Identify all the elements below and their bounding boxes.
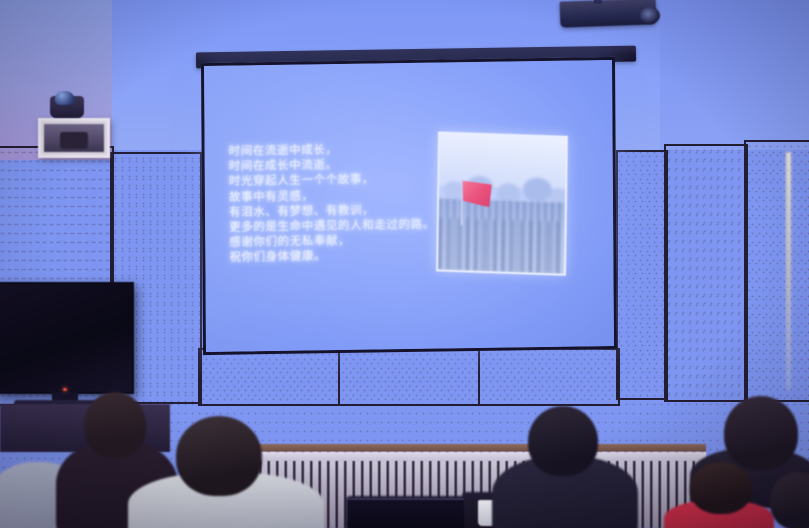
- radiator-top-band: [236, 444, 706, 452]
- audience-head: [176, 416, 262, 496]
- projection-screen: 时间在流逝中成长， 时间在成长中流逝。 时光穿起人生一个个故事， 故事中有灵感，…: [201, 57, 617, 355]
- lecture-hall-scene: 时间在流逝中成长， 时间在成长中流逝。 时光穿起人生一个个故事， 故事中有灵感，…: [0, 0, 809, 528]
- slide-photo: [436, 131, 568, 275]
- slide-text-block: 时间在流逝中成长， 时间在成长中流逝。 时光穿起人生一个个故事， 故事中有灵感，…: [229, 140, 460, 265]
- audience-head: [690, 462, 752, 514]
- shelf-equipment: [60, 132, 88, 149]
- camera-lens-icon: [55, 91, 74, 105]
- wall-panel-mid-c: [478, 348, 620, 406]
- projector-lens-icon: [640, 7, 660, 24]
- audience-head: [528, 406, 598, 476]
- audience-head: [724, 396, 798, 470]
- wall-panel-mid-a: [198, 348, 340, 406]
- wall-panel-right-a: [616, 150, 668, 400]
- photo-crowd-front: [438, 218, 565, 274]
- wall-panel-mid-b: [338, 348, 480, 406]
- audience-head: [84, 392, 146, 458]
- display-monitor: [0, 282, 134, 394]
- projector-mount: [594, 0, 602, 4]
- power-led-icon: [63, 388, 67, 391]
- upper-wall-right: [660, 0, 809, 150]
- wall-panel-right-c: [744, 140, 809, 402]
- wall-panel-right-b: [664, 144, 748, 402]
- wall-light-strip: [786, 152, 791, 390]
- laptop: [348, 498, 464, 528]
